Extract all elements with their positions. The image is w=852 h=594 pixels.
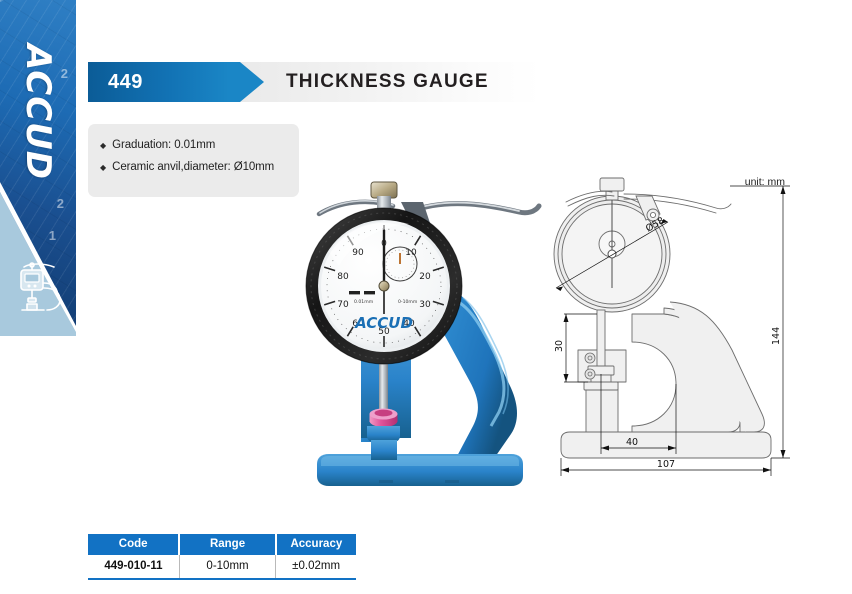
technical-drawing: Ø58 144 30 40 107 [540,170,800,480]
column-header-range: Range [179,534,275,555]
list-item: ◆ Graduation: 0.01mm [100,139,299,152]
svg-text:90: 90 [352,248,364,258]
cell-accuracy: ±0.02mm [276,555,356,579]
thickness-gauge-icon [14,258,68,318]
specifications-box: ◆ Graduation: 0.01mm ◆ Ceramic anvil,dia… [88,124,299,197]
svg-text:0.01mm: 0.01mm [354,299,374,305]
cell-range: 0-10mm [179,555,275,579]
diamond-bullet-icon: ◆ [100,161,106,174]
catalog-page: 2 2 1 ACCUD [0,0,852,594]
diamond-bullet-icon: ◆ [100,139,106,152]
product-series-code: 449 [108,62,143,102]
product-photo: 0 10 20 30 40 50 60 70 80 90 ACCUD 0.0 [305,168,555,488]
svg-text:20: 20 [419,272,431,282]
dim-anvil-height: 30 [554,340,565,352]
cell-code: 449-010-11 [88,555,179,579]
table-header-row: Code Range Accuracy [88,534,356,555]
specifications-list: ◆ Graduation: 0.01mm ◆ Ceramic anvil,dia… [88,124,299,174]
page-header-banner: 449 THICKNESS GAUGE [88,62,540,102]
list-item: ◆ Ceramic anvil,diameter: Ø10mm [100,161,299,174]
svg-text:80: 80 [337,272,349,282]
svg-text:30: 30 [419,300,431,310]
spec-text: Ceramic anvil,diameter: Ø10mm [112,161,274,174]
table-row: 449-010-11 0-10mm ±0.02mm [88,555,356,579]
svg-text:70: 70 [337,300,349,310]
column-header-accuracy: Accuracy [276,534,356,555]
dial-brand-label: ACCUD [354,314,413,332]
accud-logo: ACCUD [18,44,58,168]
svg-text:0-10mm: 0-10mm [398,299,418,305]
dim-overall-height: 144 [771,327,782,345]
sidebar-ruler-mark: 2 [57,196,64,211]
page-title: THICKNESS GAUGE [286,62,489,102]
sidebar-ruler-mark: 2 [61,66,68,81]
product-variants-table: Code Range Accuracy 449-010-11 0-10mm ±0… [88,534,356,580]
dim-throat-depth: 40 [626,437,638,448]
sidebar-ruler-mark: 1 [49,228,56,243]
column-header-code: Code [88,534,179,555]
spec-text: Graduation: 0.01mm [112,139,215,152]
dim-overall-width: 107 [657,459,675,470]
brand-sidebar: 2 2 1 ACCUD [0,0,76,336]
